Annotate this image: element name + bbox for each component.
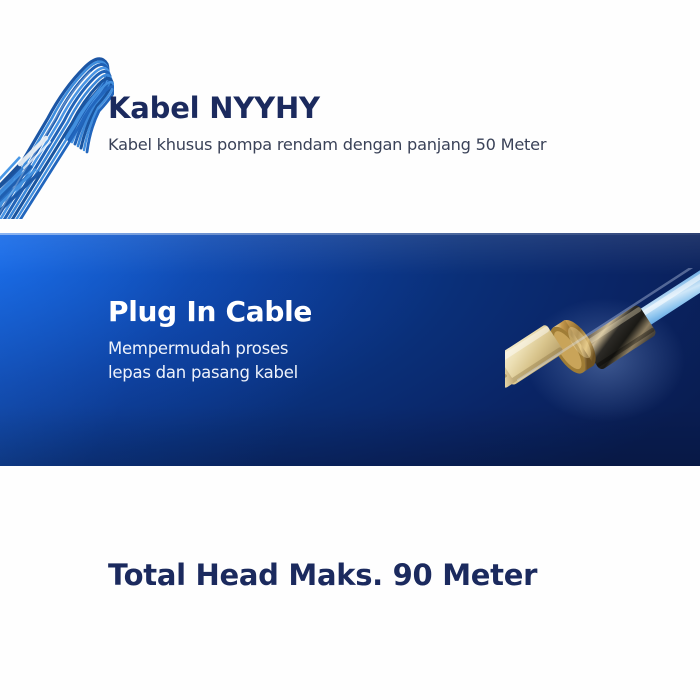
product-spec-page: Kabel NYYHY Kabel khusus pompa rendam de… xyxy=(0,0,700,700)
coiled-cable-image xyxy=(0,14,114,219)
total-head-title: Total Head Maks. 90 Meter xyxy=(108,558,688,592)
total-head-text-block: Total Head Maks. 90 Meter xyxy=(108,558,688,592)
cable-title: Kabel NYYHY xyxy=(108,92,683,125)
plug-in-cable-banner: Plug In Cable Mempermudah proses lepas d… xyxy=(0,233,700,466)
banner-top-highlight xyxy=(0,233,700,235)
cable-subtitle: Kabel khusus pompa rendam dengan panjang… xyxy=(108,135,683,154)
cable-section: Kabel NYYHY Kabel khusus pompa rendam de… xyxy=(0,0,700,233)
banner-subtitle-line-1: Mempermudah proses xyxy=(108,337,438,361)
banner-subtitle-line-2: lepas dan pasang kabel xyxy=(108,361,438,385)
banner-title: Plug In Cable xyxy=(108,297,438,328)
total-head-section: Total Head Maks. 90 Meter xyxy=(0,466,700,700)
banner-text-block: Plug In Cable Mempermudah proses lepas d… xyxy=(108,297,438,385)
cable-text-block: Kabel NYYHY Kabel khusus pompa rendam de… xyxy=(108,92,683,154)
banner-subtitle: Mempermudah proses lepas dan pasang kabe… xyxy=(108,337,438,385)
connector-image xyxy=(505,268,700,448)
